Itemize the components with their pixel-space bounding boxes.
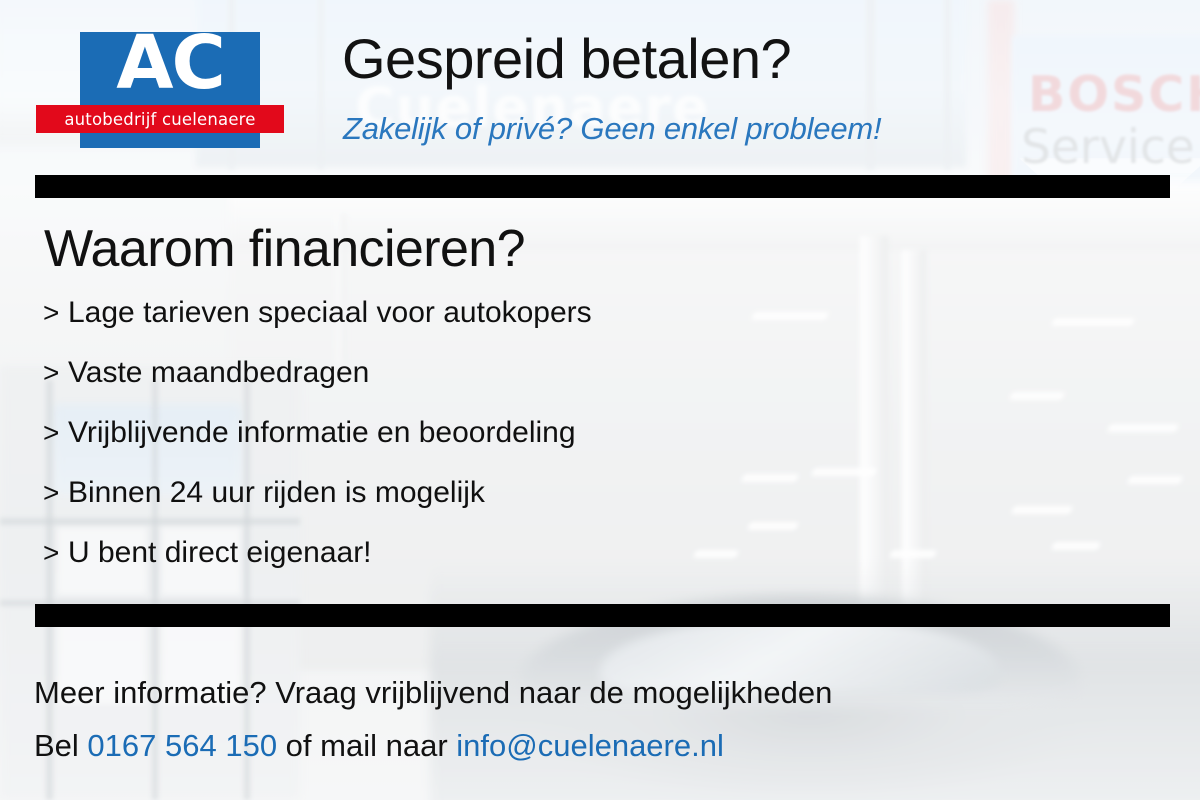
logo-tagline: autobedrijf cuelenaere <box>64 110 255 129</box>
list-item-label: Binnen 24 uur rijden is mogelijk <box>68 476 485 510</box>
contact-footer: Meer informatie? Vraag vrijblijvend naar… <box>34 666 832 773</box>
list-item: > Vaste maandbedragen <box>43 356 592 416</box>
section-title: Waarom financieren? <box>44 219 525 279</box>
list-item-label: Vaste maandbedragen <box>68 356 369 390</box>
page-subtitle: Zakelijk of privé? Geen enkel probleem! <box>343 111 881 147</box>
company-logo: AC autobedrijf cuelenaere <box>80 32 260 148</box>
footer-line-1: Meer informatie? Vraag vrijblijvend naar… <box>34 666 832 719</box>
list-item: > U bent direct eigenaar! <box>43 536 592 596</box>
email-address[interactable]: info@cuelenaere.nl <box>456 728 724 763</box>
chevron-right-icon: > <box>43 477 68 509</box>
divider-top <box>35 175 1170 198</box>
logo-red-banner: autobedrijf cuelenaere <box>36 105 284 133</box>
list-item: > Binnen 24 uur rijden is mogelijk <box>43 476 592 536</box>
chevron-right-icon: > <box>43 357 68 389</box>
logo-initials: AC <box>80 26 260 100</box>
phone-number[interactable]: 0167 564 150 <box>87 728 277 763</box>
divider-bottom <box>35 604 1170 627</box>
list-item-label: Vrijblijvende informatie en beoordeling <box>68 416 576 450</box>
footer-call-prefix: Bel <box>34 728 87 763</box>
page-title: Gespreid betalen? <box>342 28 791 90</box>
benefits-list: > Lage tarieven speciaal voor autokopers… <box>43 296 592 596</box>
list-item-label: Lage tarieven speciaal voor autokopers <box>68 296 592 330</box>
banner-content: AC autobedrijf cuelenaere Gespreid betal… <box>0 0 1200 800</box>
footer-mail-connector: of mail naar <box>277 728 456 763</box>
chevron-right-icon: > <box>43 417 68 449</box>
footer-line-2: Bel 0167 564 150 of mail naar info@cuele… <box>34 719 832 772</box>
list-item: > Vrijblijvende informatie en beoordelin… <box>43 416 592 476</box>
list-item: > Lage tarieven speciaal voor autokopers <box>43 296 592 356</box>
finance-promo-banner: Cuelenaere BOSCH Service <box>0 0 1200 800</box>
chevron-right-icon: > <box>43 297 68 329</box>
list-item-label: U bent direct eigenaar! <box>68 536 372 570</box>
chevron-right-icon: > <box>43 537 68 569</box>
